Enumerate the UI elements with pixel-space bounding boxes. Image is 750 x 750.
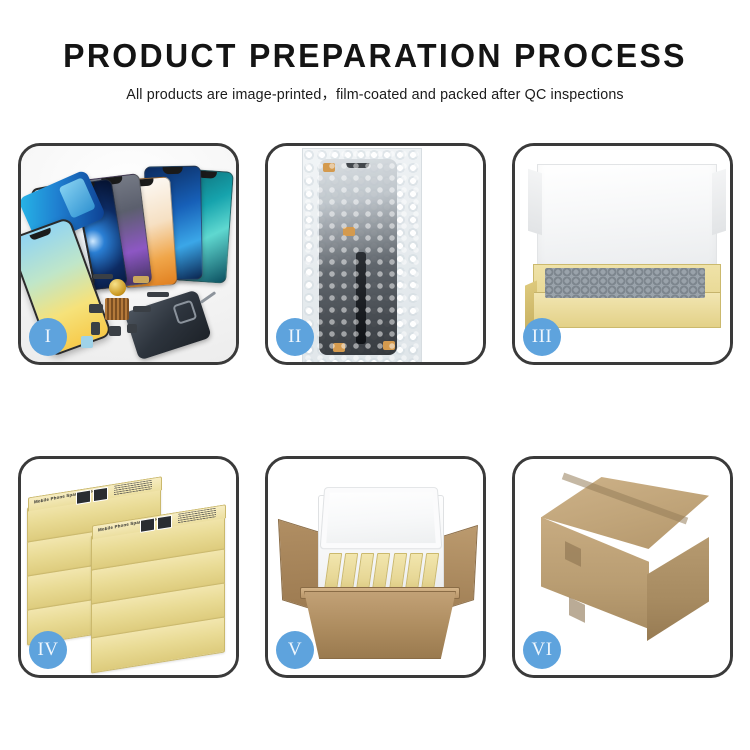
bubble-wrapped-screen-image: II — [268, 146, 483, 362]
page-subtitle: All products are image-printed，film-coat… — [0, 83, 750, 104]
label-screen-image-icon — [157, 514, 172, 529]
process-steps-grid: I II — [18, 143, 734, 678]
bubble-texture-overlay — [303, 149, 421, 362]
bubble-bag-icon — [302, 148, 422, 362]
step-panel-3: III — [512, 143, 733, 365]
part-cable-icon — [147, 292, 169, 297]
label-screen-image-icon — [93, 486, 108, 501]
label-screen-image-icon — [76, 489, 91, 504]
header: PRODUCT PREPARATION PROCESS All products… — [0, 38, 750, 104]
sealed-carton-group — [529, 477, 721, 657]
step-badge-3: III — [523, 318, 561, 356]
step-panel-6: VI — [512, 456, 733, 678]
step-panel-5: V — [265, 456, 486, 678]
step-badge-6: VI — [523, 631, 561, 669]
part-battery-icon — [81, 336, 93, 348]
step-badge-2: II — [276, 318, 314, 356]
gold-coil-icon — [109, 279, 126, 296]
foam-carton-packing-image: V — [268, 459, 483, 675]
step-badge-5: V — [276, 631, 314, 669]
part-strip-icon — [93, 274, 113, 279]
carton-body — [304, 591, 456, 659]
part-connector-icon — [133, 306, 151, 312]
white-box-lid-icon — [537, 164, 717, 276]
step-badge-1: I — [29, 318, 67, 356]
step-panel-1: I — [18, 143, 239, 365]
foam-lid-icon — [320, 487, 443, 549]
step-panel-4: Mobile Phone Spare Parts Mobile Phone Sp… — [18, 456, 239, 678]
step-badge-4: IV — [29, 631, 67, 669]
phone-screens-and-parts-image: I — [21, 146, 236, 362]
single-box-packing-image: III — [515, 146, 730, 362]
bubble-wrap-contents-icon — [545, 268, 705, 298]
stacked-retail-boxes-image: Mobile Phone Spare Parts Mobile Phone Sp… — [21, 459, 236, 675]
part-flex-gold-icon — [133, 276, 149, 283]
product-preparation-page: PRODUCT PREPARATION PROCESS All products… — [0, 0, 750, 750]
part-small-icon — [89, 304, 103, 313]
step-panel-2: II — [265, 143, 486, 365]
part-camera-icon — [109, 326, 121, 336]
label-screen-image-icon — [140, 517, 155, 532]
part-module-icon — [91, 322, 100, 335]
sealed-shipping-carton-image: VI — [515, 459, 730, 675]
part-chip-icon — [105, 298, 129, 320]
part-speaker-icon — [127, 324, 137, 333]
carton-right-face — [647, 537, 709, 641]
page-title: PRODUCT PREPARATION PROCESS — [11, 38, 739, 74]
